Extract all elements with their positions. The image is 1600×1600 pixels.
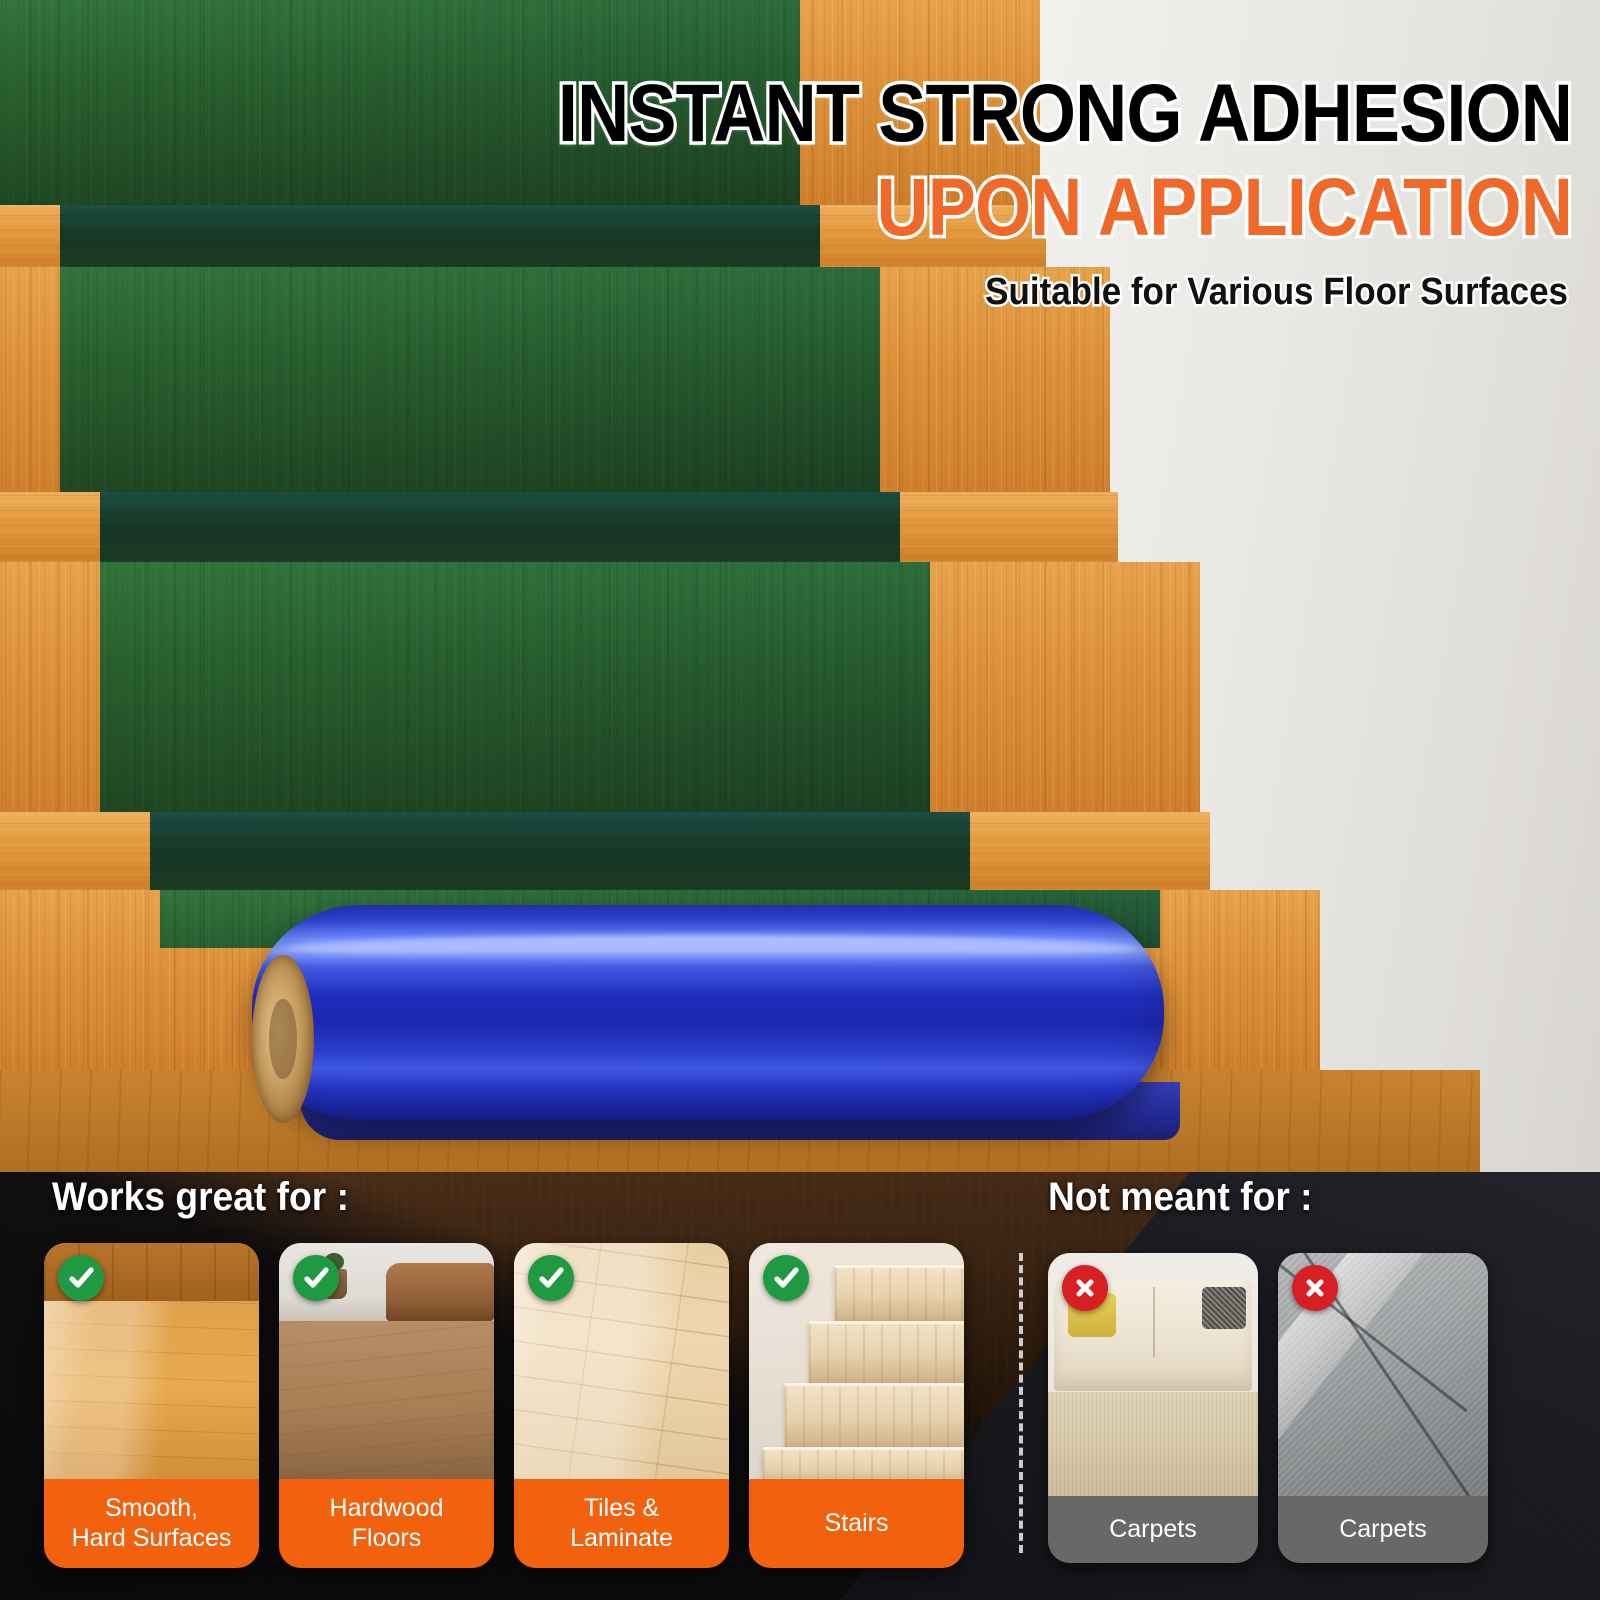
list-item[interactable]: Stairs [749,1243,964,1568]
hero-text-block: INSTANT STRONG ADHESION UPON APPLICATION… [392,74,1572,314]
film-on-tread-3 [100,562,930,812]
check-icon [293,1255,339,1301]
list-item[interactable]: HardwoodFloors [279,1243,494,1568]
check-icon [763,1255,809,1301]
list-item[interactable]: Carpets [1278,1253,1488,1563]
list-item[interactable]: Smooth,Hard Surfaces [44,1243,259,1568]
cross-icon [1062,1265,1108,1311]
card-label: HardwoodFloors [279,1479,494,1568]
check-icon [58,1255,104,1301]
cross-icon [1292,1265,1338,1311]
hero-product-scene: INSTANT STRONG ADHESION UPON APPLICATION… [0,0,1600,1172]
not-meant-for-heading: Not meant for : [1048,1175,1313,1220]
film-on-riser-3 [150,812,970,890]
card-label: Carpets [1048,1496,1258,1563]
check-icon [528,1255,574,1301]
card-label: Tiles &Laminate [514,1479,729,1568]
list-item[interactable]: Carpets [1048,1253,1258,1563]
list-item[interactable]: Tiles &Laminate [514,1243,729,1568]
hero-subheadline: Suitable for Various Floor Surfaces [486,271,1568,314]
works-great-for-heading: Works great for : [52,1175,349,1220]
film-roll-core [252,955,314,1123]
headline-line-2: UPON APPLICATION [534,168,1572,248]
card-label: Carpets [1278,1496,1488,1563]
protective-film-roll [252,905,1164,1120]
card-label: Stairs [749,1479,964,1568]
headline-line-1: INSTANT STRONG ADHESION [534,74,1572,154]
film-on-riser-2 [100,492,900,562]
section-divider [1019,1253,1023,1553]
card-label: Smooth,Hard Surfaces [44,1479,259,1568]
